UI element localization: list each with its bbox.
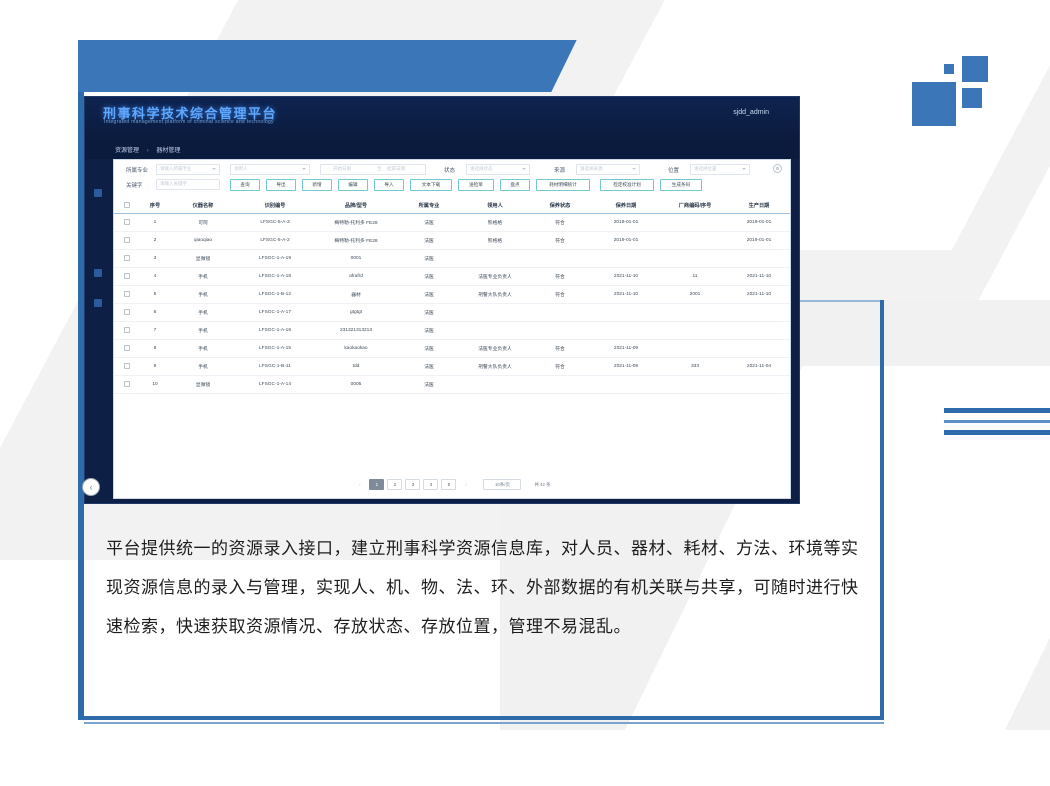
cell-made — [728, 340, 790, 358]
cell-name: 手机 — [170, 268, 236, 286]
cell-model: 0005 — [314, 376, 398, 394]
cell-serial — [662, 304, 728, 322]
cell-code: LFSGC-1-A-16 — [236, 322, 314, 340]
chevron-down-icon — [212, 168, 216, 170]
cell-major: 法医 — [398, 358, 460, 376]
row-select-cell[interactable] — [114, 304, 140, 322]
prev-slide-arrow-icon[interactable]: ‹ — [82, 478, 100, 496]
row-select-cell[interactable] — [114, 232, 140, 250]
col-maintain: 保养日期 — [590, 198, 662, 214]
chevron-down-icon — [302, 168, 306, 170]
table-header-row: 序号 仪器名称 识别编号 品牌/型号 所属专业 领用人 保养状态 保养日期 厂商… — [114, 198, 790, 214]
decor-square-medium — [962, 56, 988, 82]
source-select-value: 请选择来源 — [580, 166, 603, 172]
cell-user — [460, 376, 530, 394]
cell-user — [460, 250, 530, 268]
col-status: 保养状态 — [530, 198, 590, 214]
chevron-down-icon — [632, 168, 636, 170]
cell-major: 法医 — [398, 322, 460, 340]
row-checkbox[interactable] — [124, 291, 130, 297]
caption-box: 平台提供统一的资源录入接口，建立刑事科学资源信息库，对人员、器材、耗材、方法、环… — [84, 516, 884, 704]
btn-calibration-plan[interactable]: 检定校准计划 — [600, 179, 654, 191]
row-select-cell[interactable] — [114, 358, 140, 376]
cell-no: 8 — [140, 340, 170, 358]
cell-no: 5 — [140, 286, 170, 304]
breadcrumb: 资源管理 › 器材管理 — [115, 145, 180, 154]
app-screenshot: 刑事科学技术综合管理平台 Integrated management platf… — [84, 96, 800, 504]
page-5[interactable]: 5 — [441, 479, 456, 490]
cell-no: 4 — [140, 268, 170, 286]
cell-user: 熊格格 — [460, 232, 530, 250]
row-select-cell[interactable] — [114, 214, 140, 232]
decor-square-tiny — [944, 64, 954, 74]
cell-maintain: 2021-11-10 — [590, 286, 662, 304]
row-select-cell[interactable] — [114, 376, 140, 394]
btn-query[interactable]: 查询 — [230, 179, 260, 191]
date-range-separator: 至 — [377, 166, 382, 172]
content-panel: 所属专业 请输入所属专业 领用人 开始日期 至 结束日期 状态 请选择状态 来源… — [113, 159, 791, 499]
app-subtitle: Integrated management platform of crimin… — [104, 119, 274, 125]
cell-made: 2021-11-04 — [728, 358, 790, 376]
cell-model: tdd — [314, 358, 398, 376]
table-row[interactable]: 4手机LFSGC-1-A-18afrafrd法医法医专业负责人符合2021-11… — [114, 268, 790, 286]
decor-square-small — [962, 88, 982, 108]
table-row[interactable]: 5手机LFSGC-1-B-12器材法医刑警大队负责人符合2021-11-1020… — [114, 286, 790, 304]
breadcrumb-separator-icon: › — [147, 148, 149, 154]
cell-maintain: 2021-11-10 — [590, 268, 662, 286]
slide-title-band — [78, 40, 538, 92]
cell-status — [530, 376, 590, 394]
source-select[interactable]: 请选择来源 — [576, 164, 640, 175]
col-code: 识别编号 — [236, 198, 314, 214]
label-source: 来源 — [554, 166, 565, 174]
location-select[interactable]: 请选择位置 — [690, 164, 750, 175]
btn-import[interactable]: 导入 — [374, 179, 404, 191]
select-all-cell[interactable] — [114, 198, 140, 214]
cell-status: 符合 — [530, 358, 590, 376]
breadcrumb-current: 器材管理 — [156, 148, 180, 154]
cell-user: 法医专业负责人 — [460, 268, 530, 286]
btn-add[interactable]: 新增 — [302, 179, 332, 191]
caption-bottom-rule — [84, 716, 884, 720]
cell-serial — [662, 232, 728, 250]
table-row[interactable]: 3显微镜LFSGC-1-A-190001法医 — [114, 250, 790, 268]
cell-name: 显微镜 — [170, 376, 236, 394]
cell-no: 6 — [140, 304, 170, 322]
cell-made: 2021-11-10 — [728, 286, 790, 304]
cell-status: 符合 — [530, 268, 590, 286]
cell-name: 可阿 — [170, 214, 236, 232]
page-3[interactable]: 3 — [405, 479, 420, 490]
date-from-value: 开始日期 — [333, 166, 351, 172]
cell-user: 刑警大队负责人 — [460, 286, 530, 304]
cell-serial — [662, 214, 728, 232]
cell-status — [530, 250, 590, 268]
cell-name: qiaoqiao — [170, 232, 236, 250]
cell-status: 符合 — [530, 214, 590, 232]
chevron-down-icon — [522, 168, 526, 170]
label-location: 位置 — [668, 166, 679, 174]
cell-model: 0001 — [314, 250, 398, 268]
table-row[interactable]: 2qiaoqiaoLFSGC-5-A-2梅特勒-托利多 FE28法医熊格格符合2… — [114, 232, 790, 250]
cell-name: 手机 — [170, 286, 236, 304]
page-2[interactable]: 2 — [387, 479, 402, 490]
page-next[interactable]: › — [459, 480, 472, 489]
cell-maintain: 2021-11-09 — [590, 340, 662, 358]
btn-edit[interactable]: 编辑 — [338, 179, 368, 191]
cell-major: 法医 — [398, 268, 460, 286]
breadcrumb-bar: 资源管理 › 器材管理 — [85, 141, 799, 159]
cell-made — [728, 322, 790, 340]
cell-maintain: 2019-01-01 — [590, 214, 662, 232]
cell-model: afrafrd — [314, 268, 398, 286]
decor-bar-2 — [944, 420, 1050, 423]
cell-serial — [662, 250, 728, 268]
breadcrumb-root[interactable]: 资源管理 — [115, 148, 139, 154]
cell-major: 法医 — [398, 304, 460, 322]
label-keyword: 关键字 — [126, 181, 143, 189]
gear-icon[interactable] — [773, 164, 782, 173]
cell-name: 手机 — [170, 304, 236, 322]
caption-bottom-rule-2 — [84, 722, 884, 724]
sidebar-rail — [85, 159, 113, 497]
location-select-value: 请选择位置 — [694, 166, 717, 172]
cell-status: 符合 — [530, 340, 590, 358]
cell-code: LFSGC-1-A-17 — [236, 304, 314, 322]
col-no: 序号 — [140, 198, 170, 214]
table-row[interactable]: 10显微镜LFSGC-1-A-140005法医 — [114, 376, 790, 394]
row-checkbox[interactable] — [124, 327, 130, 333]
cell-user: 法医专业负责人 — [460, 340, 530, 358]
cell-code: LFSGC-1-A-18 — [236, 268, 314, 286]
keyword-input[interactable]: 请输入关键字 — [156, 179, 220, 190]
row-select-cell[interactable] — [114, 322, 140, 340]
sidebar-icon-1[interactable] — [94, 189, 102, 197]
cell-code: LFSGC-1-A-19 — [236, 250, 314, 268]
col-major: 所属专业 — [398, 198, 460, 214]
cell-status — [530, 322, 590, 340]
chevron-down-icon — [742, 168, 746, 170]
resource-table: 序号 仪器名称 识别编号 品牌/型号 所属专业 领用人 保养状态 保养日期 厂商… — [114, 198, 790, 394]
cell-name: 手机 — [170, 358, 236, 376]
row-select-cell[interactable] — [114, 340, 140, 358]
col-serial: 厂商编码/序号 — [662, 198, 728, 214]
cell-code: LFSGC-5-A-3 — [236, 214, 314, 232]
cell-code: LFSGC-1-B-11 — [236, 358, 314, 376]
cell-made — [728, 376, 790, 394]
app-header: 刑事科学技术综合管理平台 Integrated management platf… — [85, 97, 799, 141]
sidebar-icon-2[interactable] — [94, 269, 102, 277]
btn-inspection-form[interactable]: 送检单 — [458, 179, 494, 191]
cell-maintain — [590, 250, 662, 268]
keyword-input-placeholder: 请输入关键字 — [160, 181, 187, 187]
major-select[interactable]: 请输入所属专业 — [156, 164, 220, 175]
cell-no: 1 — [140, 214, 170, 232]
cell-maintain — [590, 304, 662, 322]
btn-export[interactable]: 导出 — [266, 179, 296, 191]
cell-no: 3 — [140, 250, 170, 268]
cell-major: 法医 — [398, 214, 460, 232]
row-checkbox[interactable] — [124, 219, 130, 225]
btn-stocktake[interactable]: 盘点 — [500, 179, 530, 191]
cell-made — [728, 250, 790, 268]
cell-made: 2019-01-01 — [728, 214, 790, 232]
select-all-checkbox[interactable] — [124, 202, 130, 208]
cell-code: LFSGC-1-B-12 — [236, 286, 314, 304]
page-4[interactable]: 4 — [423, 479, 438, 490]
filter-bar: 所属专业 请输入所属专业 领用人 开始日期 至 结束日期 状态 请选择状态 来源… — [114, 160, 790, 196]
col-made: 生产日期 — [728, 198, 790, 214]
page-title: 资源管理 — [24, 12, 112, 42]
cell-user — [460, 322, 530, 340]
decor-bar-1 — [944, 408, 1050, 413]
cell-maintain — [590, 376, 662, 394]
row-checkbox[interactable] — [124, 345, 130, 351]
cell-model: 器材 — [314, 286, 398, 304]
cell-no: 9 — [140, 358, 170, 376]
cell-user: 刑警大队负责人 — [460, 358, 530, 376]
cell-user — [460, 304, 530, 322]
cell-status: 符合 — [530, 232, 590, 250]
caption-text: 平台提供统一的资源录入接口，建立刑事科学资源信息库，对人员、器材、耗材、方法、环… — [106, 530, 862, 647]
date-range-input[interactable]: 开始日期 至 结束日期 — [320, 164, 426, 175]
cell-model: kaokaokao — [314, 340, 398, 358]
cell-major: 法医 — [398, 340, 460, 358]
person-select-value: 领用人 — [234, 166, 248, 172]
cell-serial: 11 — [662, 268, 728, 286]
row-checkbox[interactable] — [124, 363, 130, 369]
cell-maintain: 2019-01-01 — [590, 232, 662, 250]
row-checkbox[interactable] — [124, 273, 130, 279]
row-checkbox[interactable] — [124, 309, 130, 315]
total-count: 共 42 条 — [534, 482, 550, 488]
row-select-cell[interactable] — [114, 268, 140, 286]
col-user: 领用人 — [460, 198, 530, 214]
cell-model: 231321313213 — [314, 322, 398, 340]
cell-major: 法医 — [398, 250, 460, 268]
cell-code: LFSGC-1-A-14 — [236, 376, 314, 394]
cell-serial — [662, 376, 728, 394]
cell-model: 梅特勒-托利多 FE28 — [314, 232, 398, 250]
cell-code: LFSGC-1-A-15 — [236, 340, 314, 358]
table-row[interactable]: 9手机LFSGC-1-B-11tdd法医刑警大队负责人符合2021-11-093… — [114, 358, 790, 376]
cell-major: 法医 — [398, 232, 460, 250]
user-name[interactable]: sjdd_admin — [733, 109, 769, 116]
cell-serial — [662, 322, 728, 340]
decor-bars — [944, 408, 1050, 442]
cell-name: 手机 — [170, 340, 236, 358]
decor-square-large — [912, 82, 956, 126]
cell-major: 法医 — [398, 286, 460, 304]
status-select-value: 请选择状态 — [470, 166, 493, 172]
table-row[interactable]: 7手机LFSGC-1-A-16231321313213法医 — [114, 322, 790, 340]
cell-serial — [662, 340, 728, 358]
cell-no: 7 — [140, 322, 170, 340]
pagination: ‹ 1 2 3 4 5 › 10条/页 共 42 条 — [114, 479, 790, 490]
cell-no: 2 — [140, 232, 170, 250]
row-checkbox[interactable] — [124, 237, 130, 243]
major-select-value: 请输入所属专业 — [160, 166, 192, 172]
cell-maintain: 2021-11-09 — [590, 358, 662, 376]
btn-consumable-stats[interactable]: 耗材明细统计 — [536, 179, 590, 191]
row-checkbox[interactable] — [124, 255, 130, 261]
cell-made: 2021-11-10 — [728, 268, 790, 286]
cell-status — [530, 304, 590, 322]
cell-major: 法医 — [398, 376, 460, 394]
page-prev[interactable]: ‹ — [353, 480, 366, 489]
cell-user: 熊格格 — [460, 214, 530, 232]
cell-model: 梅特勒-托利多 FE28 — [314, 214, 398, 232]
cell-name: 手机 — [170, 322, 236, 340]
cell-no: 10 — [140, 376, 170, 394]
cell-made: 2019-01-01 — [728, 232, 790, 250]
label-major: 所属专业 — [126, 166, 148, 174]
label-status: 状态 — [444, 166, 455, 174]
row-select-cell[interactable] — [114, 286, 140, 304]
cell-serial: 333 — [662, 358, 728, 376]
cell-status: 符合 — [530, 286, 590, 304]
person-select[interactable]: 领用人 — [230, 164, 310, 175]
row-select-cell[interactable] — [114, 250, 140, 268]
row-checkbox[interactable] — [124, 381, 130, 387]
date-to-value: 结束日期 — [387, 166, 405, 172]
table-body: 1可阿LFSGC-5-A-3梅特勒-托利多 FE28法医熊格格符合2019-01… — [114, 214, 790, 394]
cell-made — [728, 304, 790, 322]
btn-generate-barcode[interactable]: 生成条码 — [660, 179, 702, 191]
table-row[interactable]: 6手机LFSGC-1-A-17gtgtgt法医 — [114, 304, 790, 322]
col-name: 仪器名称 — [170, 198, 236, 214]
status-select[interactable]: 请选择状态 — [466, 164, 530, 175]
cell-maintain — [590, 322, 662, 340]
col-model: 品牌/型号 — [314, 198, 398, 214]
page-size-select[interactable]: 10条/页 — [483, 479, 521, 490]
cell-code: LFSGC-5-A-2 — [236, 232, 314, 250]
page-1[interactable]: 1 — [369, 479, 384, 490]
cell-serial: 2001 — [662, 286, 728, 304]
table-row[interactable]: 1可阿LFSGC-5-A-3梅特勒-托利多 FE28法医熊格格符合2019-01… — [114, 214, 790, 232]
cell-model: gtgtgt — [314, 304, 398, 322]
decor-bar-3 — [944, 430, 1050, 435]
btn-text-download[interactable]: 文本下载 — [410, 179, 452, 191]
sidebar-icon-3[interactable] — [94, 299, 102, 307]
cell-name: 显微镜 — [170, 250, 236, 268]
table-row[interactable]: 8手机LFSGC-1-A-15kaokaokao法医法医专业负责人符合2021-… — [114, 340, 790, 358]
